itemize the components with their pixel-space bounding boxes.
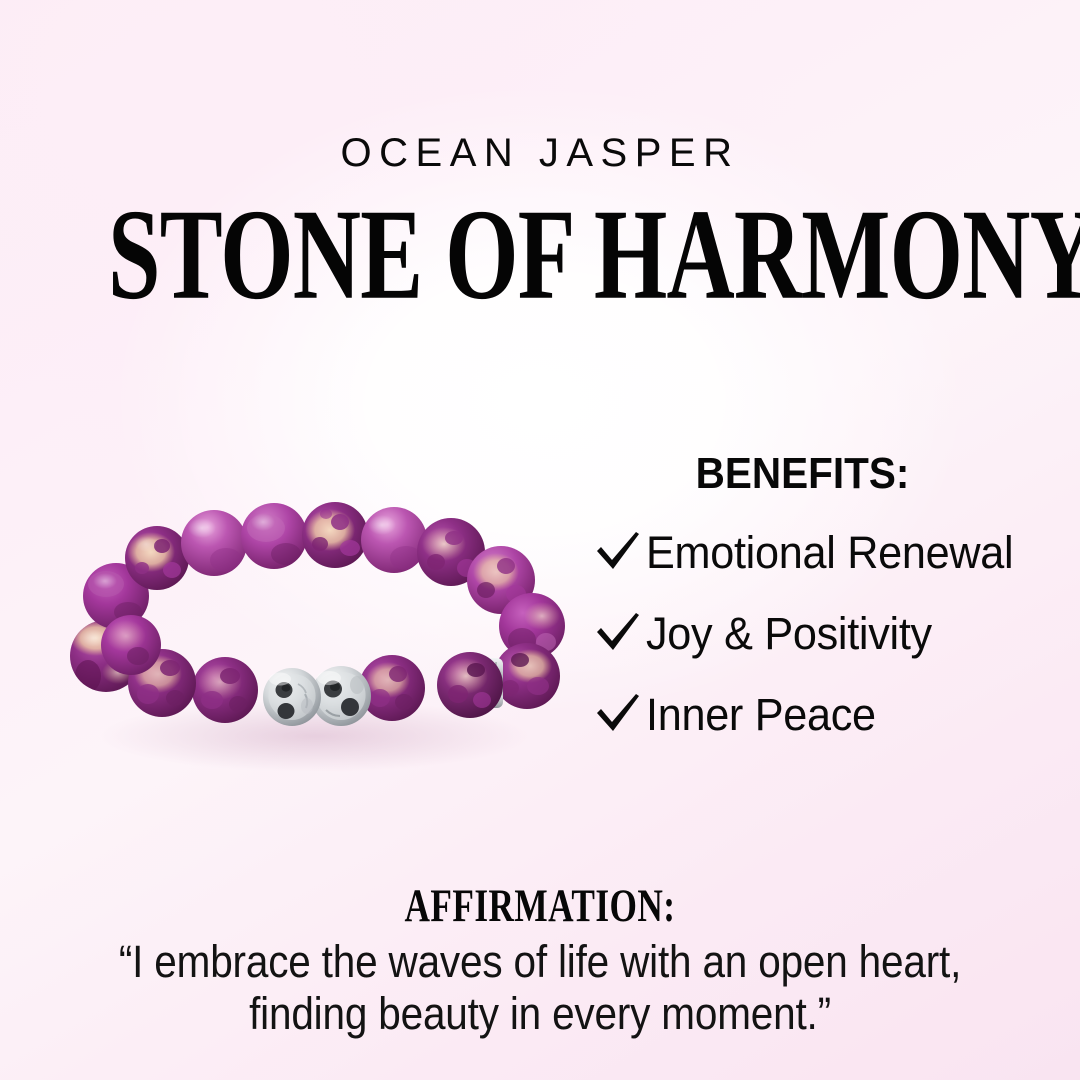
skull-bead-left — [263, 668, 321, 726]
check-icon — [590, 612, 646, 654]
benefit-item: Inner Peace — [590, 689, 1060, 739]
benefit-label: Joy & Positivity — [646, 611, 932, 656]
benefit-label: Emotional Renewal — [646, 530, 1013, 575]
benefit-item: Emotional Renewal — [590, 527, 1060, 577]
benefit-item: Joy & Positivity — [590, 608, 1060, 658]
affirmation-line-2: finding beauty in every moment.” — [108, 988, 972, 1040]
bead-group — [70, 502, 565, 726]
benefits-section: BENEFITS: Emotional Renewal Joy & Positi… — [590, 452, 1060, 739]
affirmation-heading: AFFIRMATION: — [86, 883, 993, 930]
stone-name-kicker: OCEAN JASPER — [0, 133, 1080, 173]
check-icon — [590, 531, 646, 573]
benefits-heading: BENEFITS: — [607, 452, 998, 496]
check-icon — [590, 693, 646, 735]
benefit-label: Inner Peace — [646, 692, 876, 737]
promo-card: OCEAN JASPER STONE OF HARMONY — [0, 0, 1080, 1080]
product-image-bracelet — [30, 480, 590, 780]
affirmation-quote: “I embrace the waves of life with an ope… — [108, 936, 972, 1040]
page-title: STONE OF HARMONY — [108, 190, 972, 320]
affirmation-line-1: “I embrace the waves of life with an ope… — [108, 936, 972, 988]
